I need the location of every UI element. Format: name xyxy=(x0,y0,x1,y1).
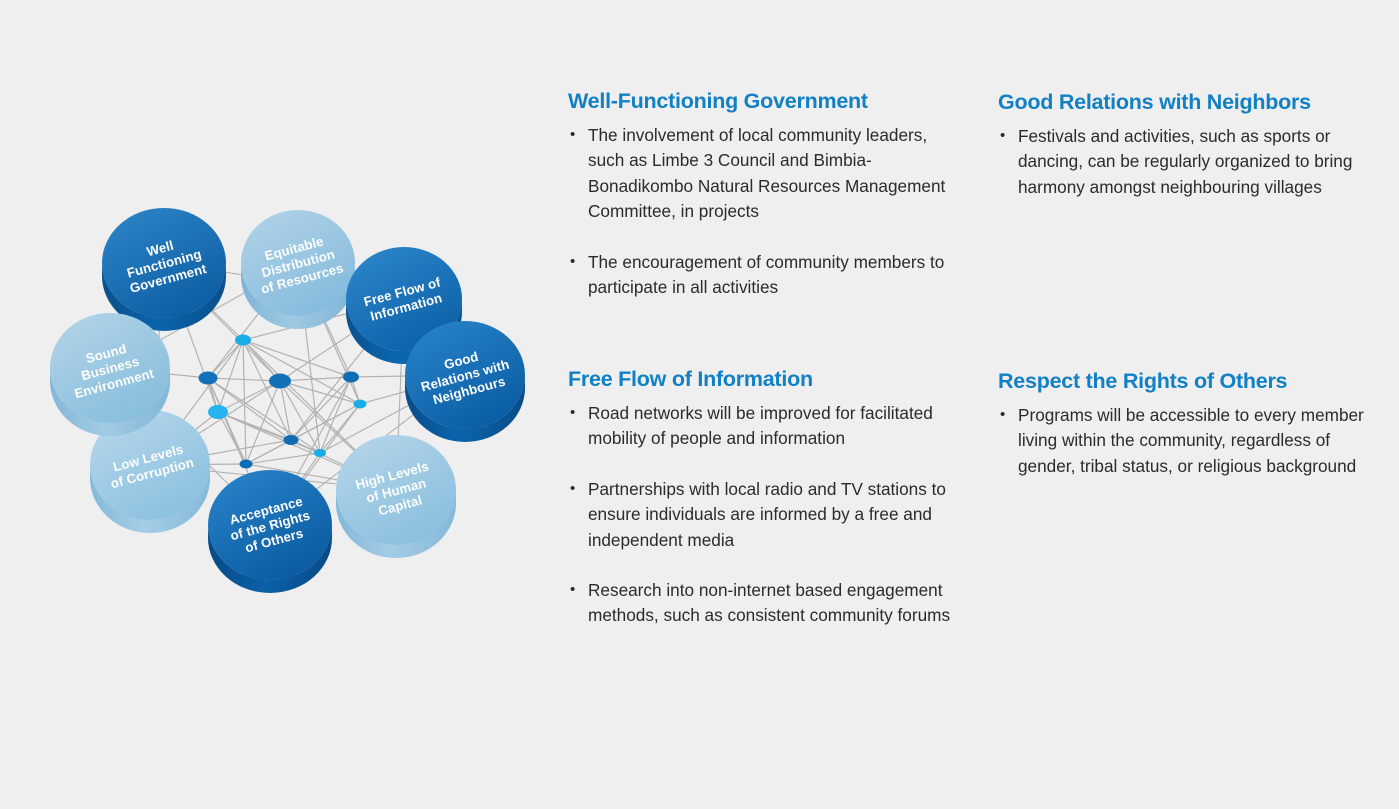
section-heading: Free Flow of Information xyxy=(568,366,968,392)
pillars-of-peace-diagram: WellFunctioningGovernmentEquitableDistri… xyxy=(0,185,560,595)
section-heading: Respect the Rights of Others xyxy=(998,368,1368,394)
network-node xyxy=(354,400,367,409)
network-node xyxy=(235,335,251,346)
network-node xyxy=(240,460,253,469)
bullet-list: Programs will be accessible to every mem… xyxy=(998,403,1368,479)
list-item: Festivals and activities, such as sports… xyxy=(998,124,1378,200)
section-good-relations-with-neighbors: Good Relations with Neighbors Festivals … xyxy=(998,89,1378,200)
pillar-disc-acceptance-of-the-rights-of-others: Acceptanceof the Rightsof Others xyxy=(208,470,332,593)
bullet-list: The involvement of local community leade… xyxy=(568,123,968,300)
network-node xyxy=(343,372,359,383)
diagram-canvas: WellFunctioningGovernmentEquitableDistri… xyxy=(0,185,560,595)
network-node xyxy=(284,435,299,445)
pillar-disc-equitable-distribution-of-resources: EquitableDistributionof Resources xyxy=(241,210,355,329)
section-heading: Good Relations with Neighbors xyxy=(998,89,1378,115)
pillar-disc-layer: WellFunctioningGovernmentEquitableDistri… xyxy=(50,208,525,593)
bullet-list: Road networks will be improved for facil… xyxy=(568,401,968,629)
pillar-disc-sound-business-environment: SoundBusinessEnvironment xyxy=(50,313,170,436)
pillar-disc-high-levels-of-human-capital: High Levelsof HumanCapital xyxy=(336,435,456,558)
bullet-list: Festivals and activities, such as sports… xyxy=(998,124,1378,200)
pillar-disc-good-relations-with-neighbours: GoodRelations withNeighbours xyxy=(405,321,525,442)
network-node xyxy=(314,449,326,457)
list-item: Partnerships with local radio and TV sta… xyxy=(568,477,968,553)
network-node xyxy=(208,405,228,419)
network-node xyxy=(269,374,291,389)
list-item: Road networks will be improved for facil… xyxy=(568,401,968,452)
pillar-disc-well-functioning-government: WellFunctioningGovernment xyxy=(102,208,226,331)
list-item: Research into non-internet based engagem… xyxy=(568,578,968,629)
section-heading: Well-Functioning Government xyxy=(568,88,968,114)
section-free-flow-of-information: Free Flow of Information Road networks w… xyxy=(568,366,968,629)
network-node xyxy=(199,372,218,385)
list-item: The encouragement of community members t… xyxy=(568,250,968,301)
list-item: Programs will be accessible to every mem… xyxy=(998,403,1368,479)
section-well-functioning-government: Well-Functioning Government The involvem… xyxy=(568,88,968,300)
section-respect-the-rights-of-others: Respect the Rights of Others Programs wi… xyxy=(998,368,1368,479)
list-item: The involvement of local community leade… xyxy=(568,123,968,225)
